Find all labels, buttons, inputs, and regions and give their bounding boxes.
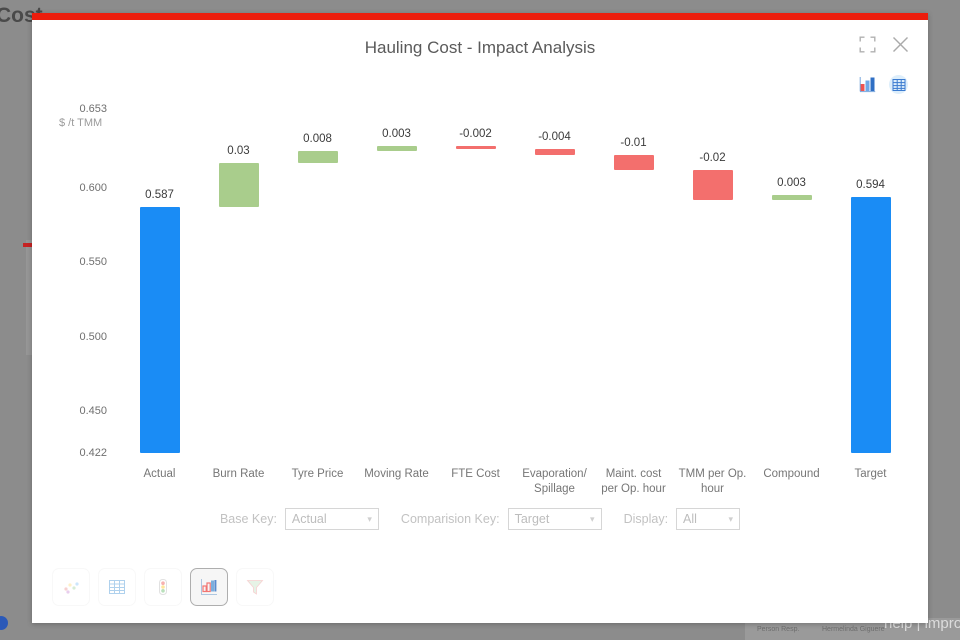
display-control: Display: All ▾ (624, 508, 740, 530)
y-axis-unit-label: $ /t TMM (59, 117, 102, 129)
table-grid-icon[interactable] (98, 568, 136, 606)
chart-bar[interactable] (535, 149, 575, 155)
plot-area: 0.587Actual0.03Burn Rate0.008Tyre Price0… (120, 109, 910, 453)
comparison-key-control: Comparision Key: Target ▾ (401, 508, 602, 530)
chevron-down-icon: ▾ (590, 514, 595, 525)
bar-value-label: -0.01 (620, 137, 646, 149)
chart-bar[interactable] (614, 155, 654, 170)
bar-value-label: -0.004 (538, 131, 571, 143)
traffic-light-icon[interactable] (144, 568, 182, 606)
base-key-label: Base Key: (220, 512, 277, 526)
y-axis-tick: 0.653 (59, 103, 107, 115)
bar-value-label: 0.03 (227, 145, 249, 157)
dialog-accent-bar (32, 13, 928, 20)
scatter-chart-icon[interactable] (52, 568, 90, 606)
waterfall-chart-icon[interactable] (190, 568, 228, 606)
chart-bar[interactable] (219, 163, 259, 208)
bar-value-label: -0.002 (459, 128, 492, 140)
y-axis-tick: 0.500 (59, 331, 107, 343)
waterfall-chart: $ /t TMM 0.6530.6000.5500.5000.4500.422 … (32, 99, 928, 499)
chart-bar[interactable] (693, 170, 733, 200)
impact-analysis-dialog: Hauling Cost - Impact Analysis (32, 13, 928, 623)
expand-icon[interactable] (857, 34, 877, 54)
y-axis-tick: 0.550 (59, 256, 107, 268)
base-key-select[interactable]: Actual ▾ (285, 508, 379, 530)
view-toggle-group (858, 75, 908, 94)
comparison-key-label: Comparision Key: (401, 512, 500, 526)
chart-bar[interactable] (456, 146, 496, 149)
dialog-title: Hauling Cost - Impact Analysis (32, 38, 928, 58)
bar-value-label: -0.02 (699, 152, 725, 164)
chart-bar[interactable] (772, 195, 812, 199)
display-select[interactable]: All ▾ (676, 508, 740, 530)
table-view-icon[interactable] (889, 75, 908, 94)
chevron-down-icon: ▾ (367, 514, 372, 525)
background-footer-value: Hermelinda Giguere (822, 626, 885, 633)
display-value: All (683, 512, 697, 526)
funnel-chart-icon[interactable] (236, 568, 274, 606)
y-axis-tick: 0.450 (59, 405, 107, 417)
chart-view-icon[interactable] (858, 75, 877, 94)
bar-value-label: 0.594 (856, 179, 885, 191)
chart-bar[interactable] (851, 197, 891, 453)
y-axis-tick: 0.600 (59, 182, 107, 194)
comparison-key-select[interactable]: Target ▾ (508, 508, 602, 530)
base-key-control: Base Key: Actual ▾ (220, 508, 379, 530)
window-controls (857, 34, 910, 54)
y-axis-tick: 0.422 (59, 447, 107, 459)
visualization-toolbar (52, 568, 274, 606)
background-status-dot (0, 616, 8, 630)
chart-controls: Base Key: Actual ▾ Comparision Key: Targ… (32, 508, 928, 530)
chart-bar[interactable] (298, 151, 338, 163)
chart-bar[interactable] (140, 207, 180, 453)
chevron-down-icon: ▾ (729, 514, 734, 525)
bar-value-label: 0.587 (145, 189, 174, 201)
background-footer-label: Person Resp. (757, 626, 799, 633)
bar-value-label: 0.003 (777, 177, 806, 189)
base-key-value: Actual (292, 512, 327, 526)
comparison-key-value: Target (515, 512, 550, 526)
bar-value-label: 0.003 (382, 128, 411, 140)
chart-bar[interactable] (377, 146, 417, 150)
bar-value-label: 0.008 (303, 133, 332, 145)
x-axis-category-label: Target (825, 467, 917, 482)
display-label: Display: (624, 512, 668, 526)
close-icon[interactable] (890, 34, 910, 54)
